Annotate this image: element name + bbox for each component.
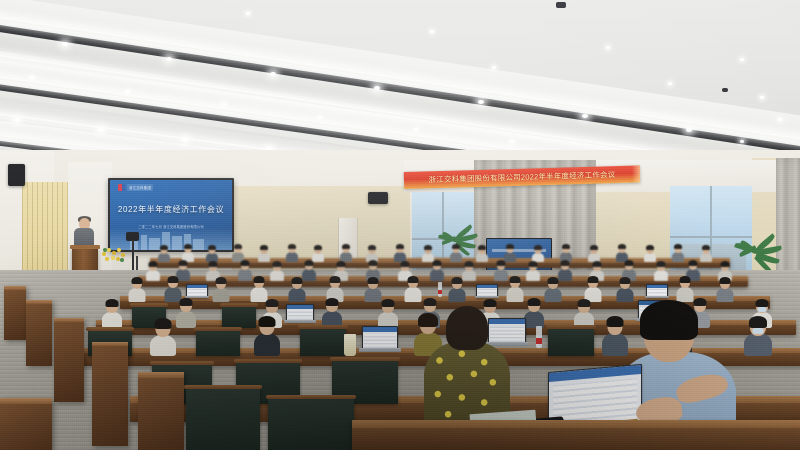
desk-end-1 [4, 286, 26, 340]
desk-end-2 [26, 300, 52, 366]
wall-speaker-center-icon [368, 192, 388, 204]
attendee-floral-blouse [424, 306, 510, 426]
laptop-n1-a[interactable] [362, 326, 398, 350]
chair-front-center[interactable] [268, 398, 354, 450]
banner-fold [632, 165, 640, 182]
water-bottle-m1[interactable] [438, 282, 442, 297]
ceiling-speaker-icon [556, 2, 566, 8]
screen-title: 2022年半年度经济工作会议 [110, 204, 232, 215]
attendee-hair [446, 306, 488, 350]
desk-end-5 [138, 372, 184, 450]
chair-m2-b[interactable] [222, 306, 256, 328]
logo-text: 浙江交科集团 [127, 184, 153, 191]
logo-mark-icon [118, 184, 125, 191]
company-logo: 浙江交科集团 [118, 184, 153, 191]
laptop-m1-c[interactable] [646, 284, 668, 298]
conference-hall-photo: 浙江交科集团股份有限公司2022年半年度经济工作会议 浙江交科集团 2022年半… [0, 0, 800, 450]
water-bottle-n1[interactable] [536, 326, 542, 348]
laptop-m1-b[interactable] [476, 284, 498, 298]
flower-arrangement [100, 246, 126, 264]
chair-front-left[interactable] [186, 388, 260, 450]
chair-n1-c[interactable] [300, 328, 346, 356]
wall-speaker-left-icon [8, 164, 25, 186]
banner-text: 浙江交科集团股份有限公司2022年半年度经济工作会议 [428, 169, 615, 185]
laptop-m1-a[interactable] [186, 284, 208, 298]
desk-end-3 [54, 318, 84, 402]
laptop-m2-a[interactable] [286, 304, 314, 322]
drink-cup-n1[interactable] [344, 334, 356, 356]
desk-end-4 [92, 342, 128, 446]
chair-n1-b[interactable] [196, 330, 240, 356]
ceiling-sensor-icon [722, 88, 728, 92]
desk-end-6 [0, 398, 52, 450]
ceiling [0, 0, 800, 175]
chair-n1-d[interactable] [548, 328, 594, 356]
desk-front-ledge [352, 420, 800, 450]
